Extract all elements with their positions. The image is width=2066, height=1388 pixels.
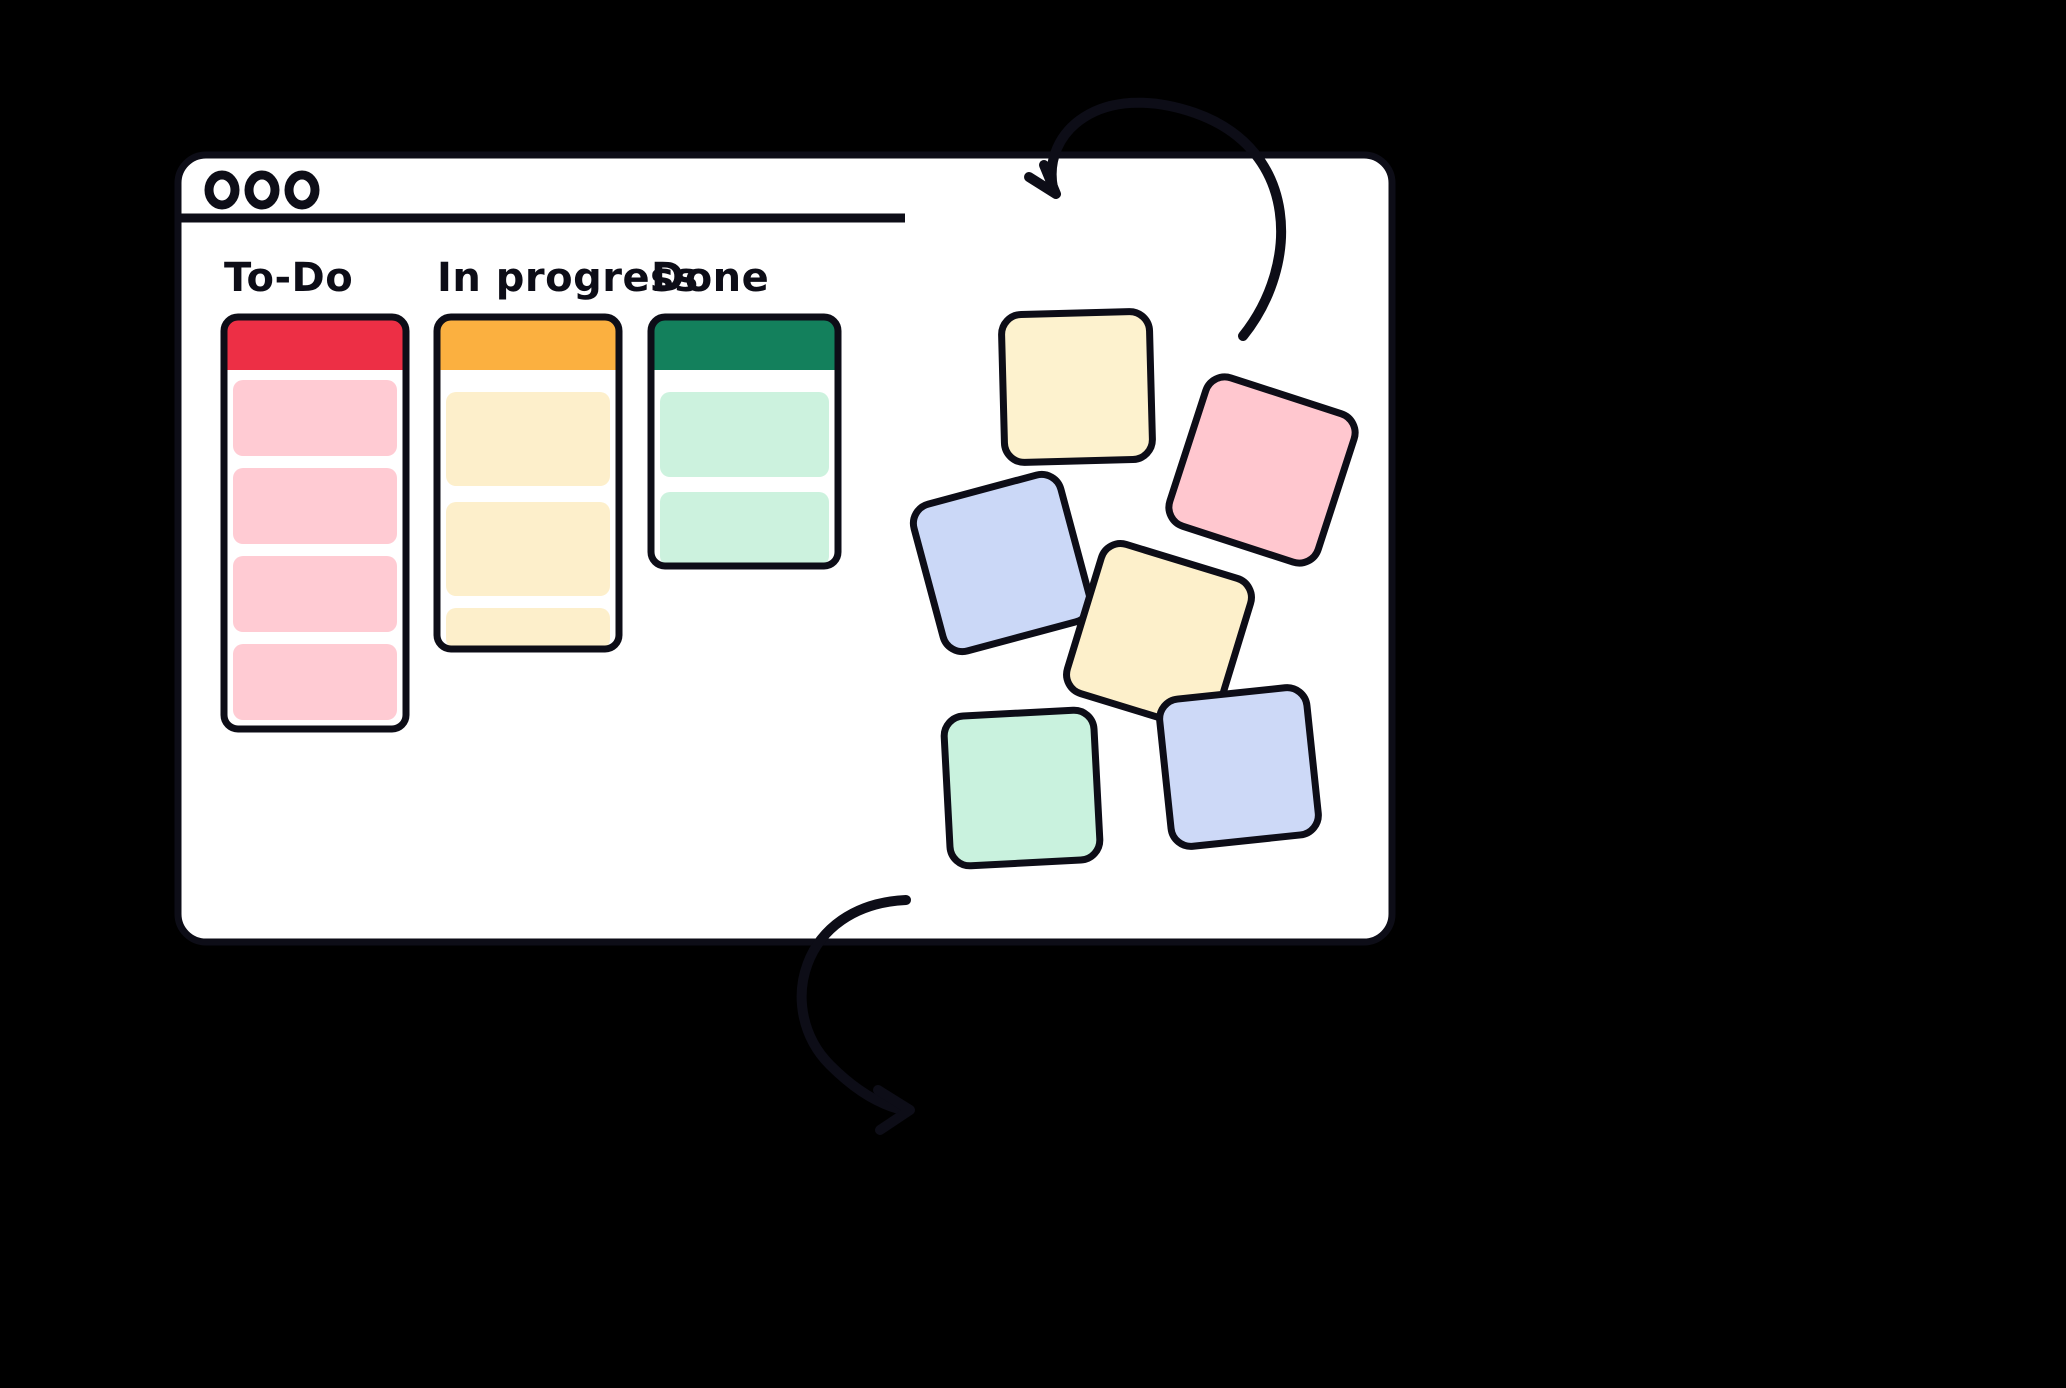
card-in-progress-2[interactable] <box>446 502 610 596</box>
sticky-note-green-surface[interactable] <box>943 709 1101 867</box>
column-title-done: Done <box>651 255 769 301</box>
card-todo-3[interactable] <box>233 556 397 632</box>
board-column-todo[interactable]: To-Do <box>224 255 406 729</box>
column-header-done <box>651 317 838 370</box>
sticky-note-blue-right-surface[interactable] <box>1158 686 1321 849</box>
card-in-progress-1[interactable] <box>446 392 610 486</box>
sticky-note-cream-top-surface[interactable] <box>1001 311 1153 463</box>
card-todo-1[interactable] <box>233 380 397 456</box>
card-in-progress-3[interactable] <box>446 608 610 649</box>
card-done-2[interactable] <box>660 492 829 566</box>
card-todo-4[interactable] <box>233 644 397 720</box>
card-done-1[interactable] <box>660 392 829 477</box>
illustration-canvas: To-DoIn progressDone <box>0 0 2066 1388</box>
sticky-note-cream-top[interactable] <box>1001 311 1153 463</box>
sticky-note-green[interactable] <box>943 709 1101 867</box>
card-todo-2[interactable] <box>233 468 397 544</box>
kanban-illustration: To-DoIn progressDone <box>0 0 2066 1388</box>
sticky-note-blue-right[interactable] <box>1158 686 1321 849</box>
column-title-todo: To-Do <box>224 255 353 301</box>
column-header-todo <box>224 317 406 370</box>
column-header-in-progress <box>437 317 619 370</box>
